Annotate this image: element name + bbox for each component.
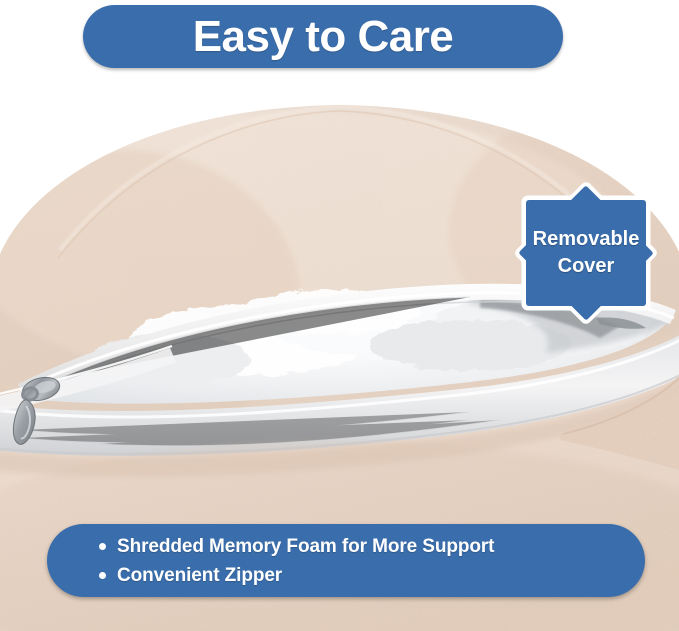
bullet-dot-icon	[99, 543, 106, 550]
feature-label: Shredded Memory Foam for More Support	[117, 537, 494, 556]
badge-line-1: Removable	[533, 227, 640, 252]
feature-item: Shredded Memory Foam for More Support	[99, 532, 645, 561]
product-feature-image: Easy to Care Removable Cover Shredded Me…	[0, 0, 679, 631]
easy-to-care-banner: Easy to Care	[83, 5, 563, 68]
page-title: Easy to Care	[193, 15, 454, 59]
badge-text-block: Removable Cover	[494, 172, 678, 334]
feature-list-banner: Shredded Memory Foam for More Support Co…	[47, 524, 645, 597]
removable-cover-badge: Removable Cover	[494, 172, 678, 334]
badge-line-2: Cover	[558, 254, 615, 279]
bullet-dot-icon	[99, 572, 106, 579]
feature-item: Convenient Zipper	[99, 561, 645, 590]
feature-label: Convenient Zipper	[117, 566, 282, 585]
